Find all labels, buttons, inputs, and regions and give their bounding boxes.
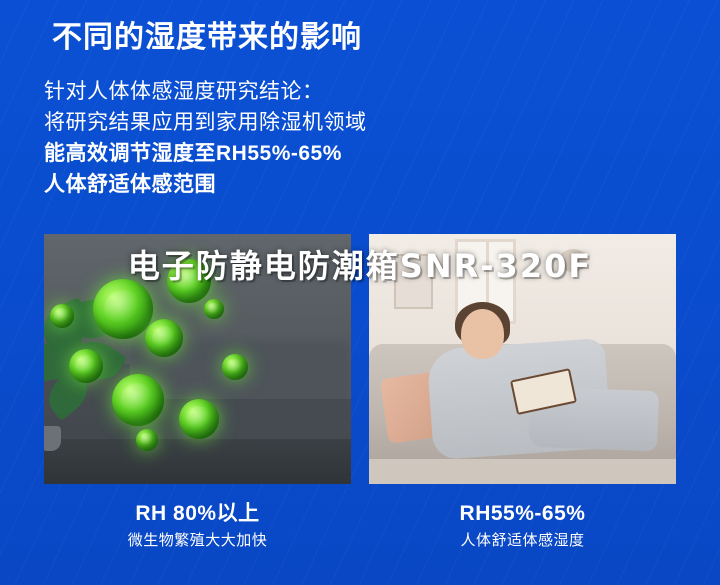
- microbe-icon: [222, 354, 248, 380]
- microbe-icon: [204, 299, 224, 319]
- caption-left-title: RH 80%以上: [44, 500, 351, 528]
- page-title: 不同的湿度带来的影响: [52, 18, 362, 58]
- microbe-icon: [136, 429, 158, 451]
- caption-right: RH55%-65% 人体舒适体感湿度: [369, 500, 676, 554]
- bright-room-scene: [369, 234, 676, 484]
- microbe-icon: [69, 349, 103, 383]
- photo-left-high-humidity: [44, 234, 351, 484]
- photo-comparison: [44, 234, 676, 484]
- caption-right-desc: 人体舒适体感湿度: [369, 528, 676, 554]
- intro-line-1: 针对人体体感湿度研究结论：: [44, 76, 644, 107]
- microbe-icon: [50, 304, 74, 328]
- poster-root: 不同的湿度带来的影响 针对人体体感湿度研究结论： 将研究结果应用到家用除湿机领域…: [0, 0, 720, 585]
- plant-pot: [44, 426, 61, 451]
- caption-left: RH 80%以上 微生物繁殖大大加快: [44, 500, 351, 554]
- microbe-icon: [179, 399, 219, 439]
- picture-frame: [394, 254, 434, 309]
- carpet: [369, 459, 676, 484]
- microbe-icon: [167, 259, 211, 303]
- microbe-icon: [93, 279, 153, 339]
- intro-line-3: 能高效调节湿度至RH55%-65%: [44, 138, 644, 169]
- microbe-icon: [112, 374, 164, 426]
- intro-text-block: 针对人体体感湿度研究结论： 将研究结果应用到家用除湿机领域 能高效调节湿度至RH…: [44, 76, 644, 200]
- intro-line-2: 将研究结果应用到家用除湿机领域: [44, 107, 644, 138]
- dark-room-scene: [44, 234, 351, 484]
- caption-row: RH 80%以上 微生物繁殖大大加快 RH55%-65% 人体舒适体感湿度: [44, 500, 676, 554]
- photo-right-comfort-humidity: [369, 234, 676, 484]
- caption-right-title: RH55%-65%: [369, 500, 676, 528]
- person-head: [461, 309, 504, 359]
- intro-line-4: 人体舒适体感范围: [44, 169, 644, 200]
- caption-left-desc: 微生物繁殖大大加快: [44, 528, 351, 554]
- lamp: [559, 249, 587, 272]
